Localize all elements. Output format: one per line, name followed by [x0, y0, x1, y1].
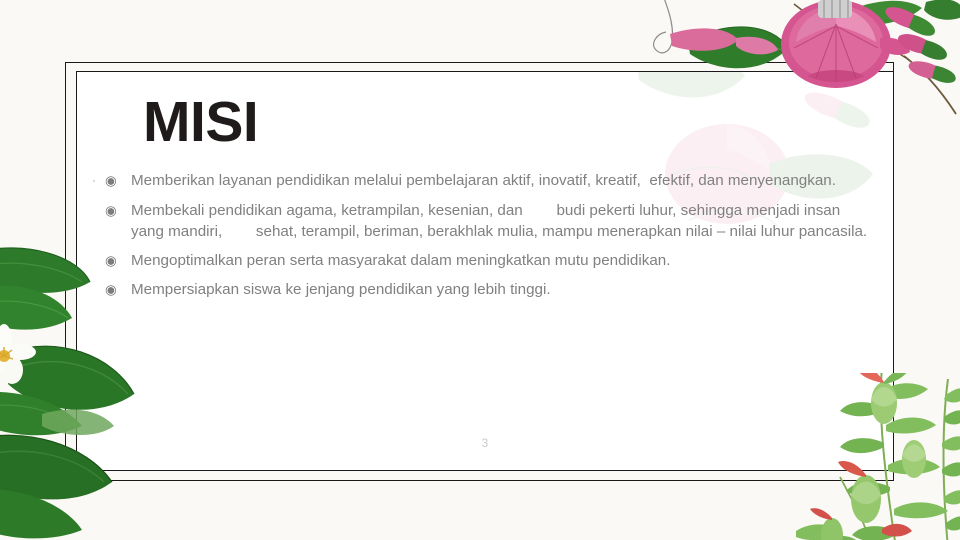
- list-item-text: Membekali pendidikan agama, ketrampilan,…: [131, 200, 868, 243]
- list-item-text: Mempersiapkan siswa ke jenjang pendidika…: [131, 279, 551, 301]
- list-item-text: Memberikan layanan pendidikan melalui pe…: [131, 170, 836, 192]
- list-item[interactable]: ◉ Membekali pendidikan agama, ketrampila…: [83, 200, 881, 243]
- white-blossom-icon: [0, 324, 36, 384]
- leaf-cluster-icon: [688, 0, 960, 68]
- list-item[interactable]: ◉ Mempersiapkan siswa ke jenjang pendidi…: [83, 279, 881, 301]
- bullet-glyph-icon: ◉: [105, 279, 131, 300]
- bullet-glyph-icon: ◉: [105, 170, 131, 191]
- slide-content-area: MISI · ◉ Memberikan layanan pendidikan m…: [77, 72, 893, 470]
- bullet-glyph-icon: ◉: [105, 200, 131, 221]
- pre-bullet-dot: ·: [83, 170, 105, 192]
- slide-inner-border: MISI · ◉ Memberikan layanan pendidikan m…: [76, 71, 894, 471]
- bullet-glyph-icon: ◉: [105, 250, 131, 271]
- page-title: MISI: [143, 94, 258, 151]
- mission-bullet-list: · ◉ Memberikan layanan pendidikan melalu…: [83, 170, 881, 308]
- list-item[interactable]: · ◉ Memberikan layanan pendidikan melalu…: [83, 170, 881, 192]
- list-item-text: Mengoptimalkan peran serta masyarakat da…: [131, 250, 670, 272]
- page-number: 3: [77, 438, 893, 450]
- list-item[interactable]: ◉ Mengoptimalkan peran serta masyarakat …: [83, 250, 881, 272]
